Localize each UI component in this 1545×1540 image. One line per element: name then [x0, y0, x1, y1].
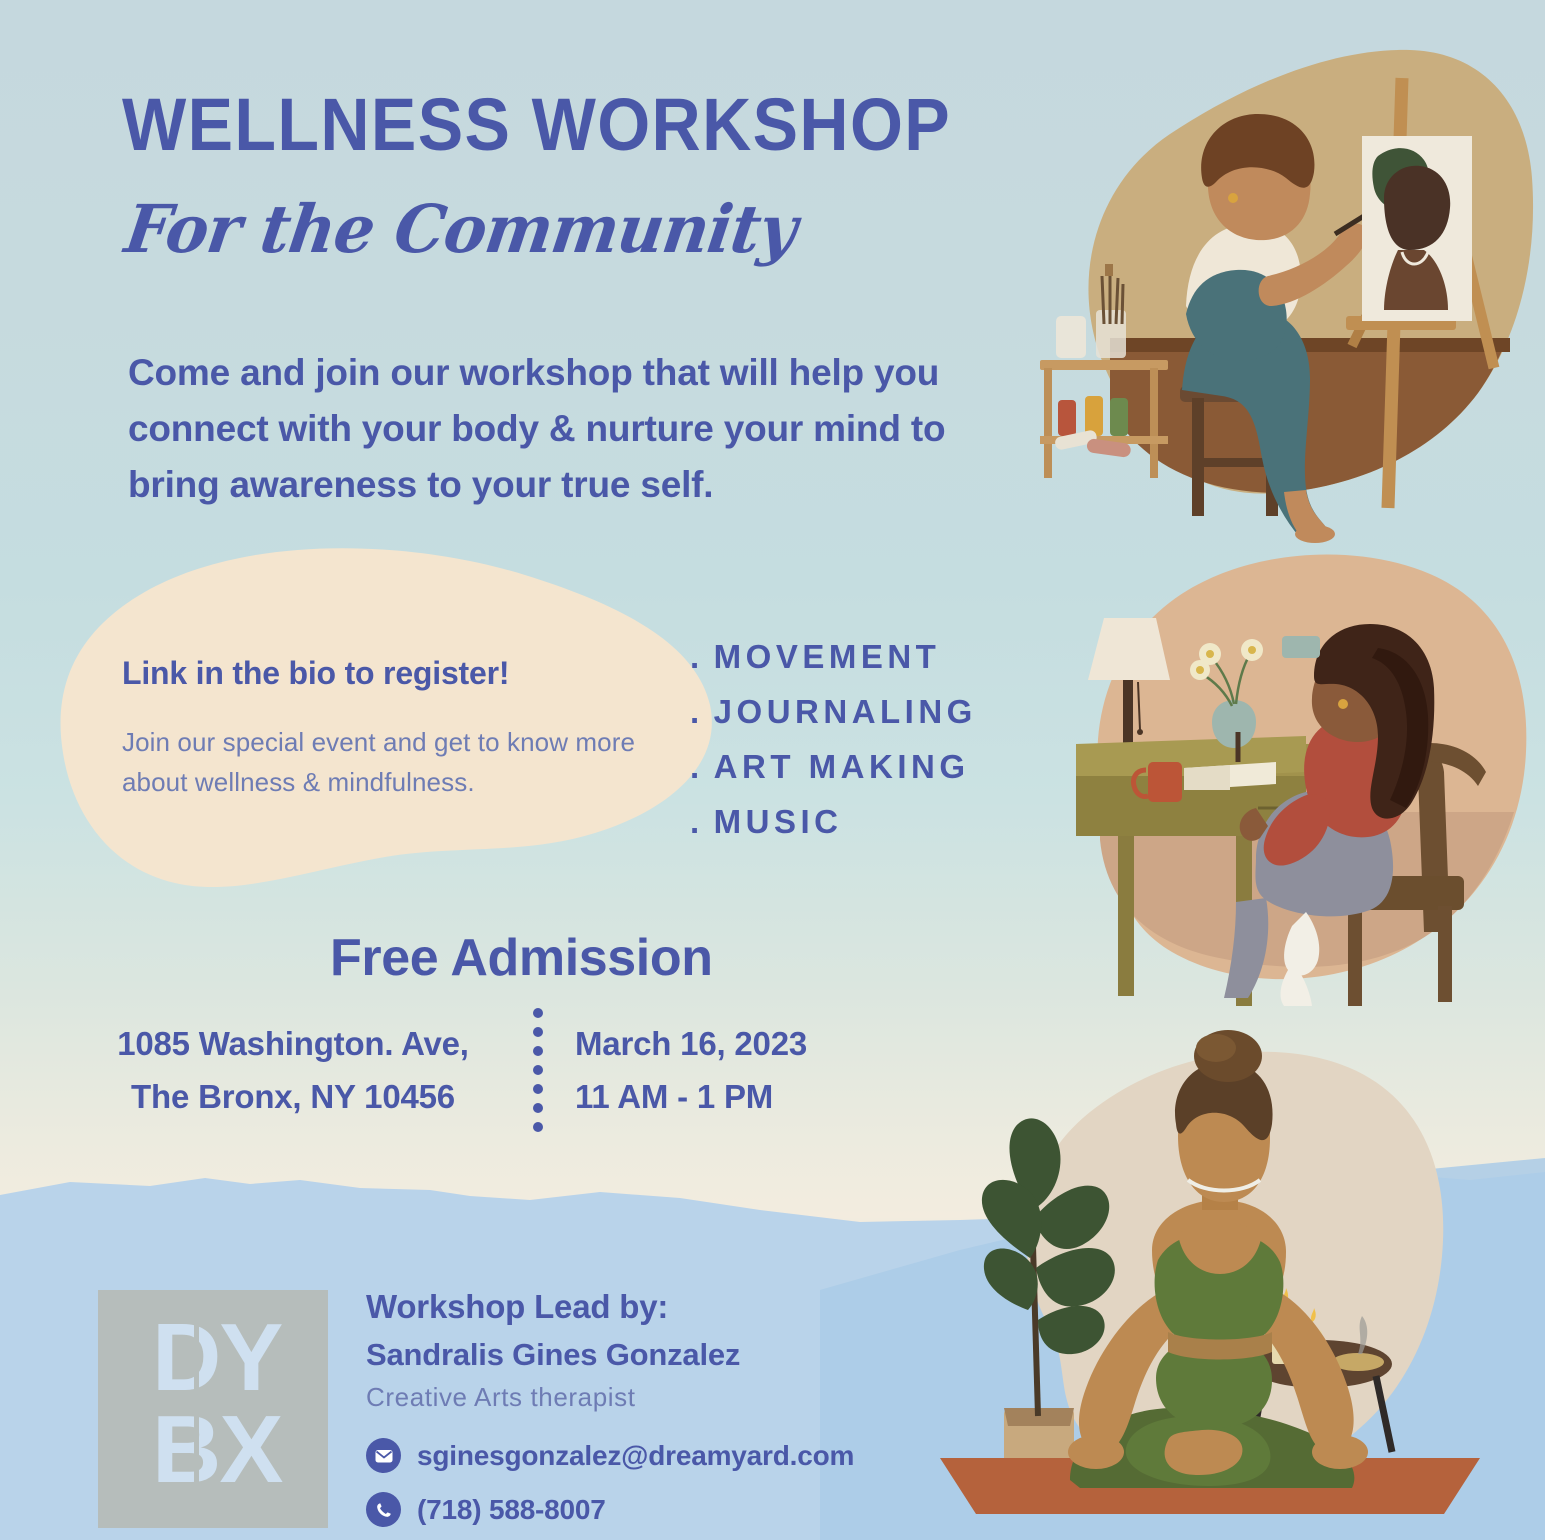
poster-canvas: WELLNESS WORKSHOP For the Community Come… [0, 0, 1545, 1540]
register-body: Join our special event and get to know m… [122, 722, 652, 803]
workshop-lead-name: Sandralis Gines Gonzalez [366, 1337, 740, 1373]
activity-label: ART MAKING [714, 748, 970, 785]
event-time: 11 AM - 1 PM [575, 1071, 905, 1124]
workshop-lead-label: Workshop Lead by: [366, 1288, 668, 1326]
event-date: March 16, 2023 [575, 1018, 905, 1071]
page-subtitle: For the Community [121, 196, 800, 262]
phone-icon [366, 1492, 401, 1527]
activity-item: .ART MAKING [690, 750, 977, 783]
dotted-divider [533, 1008, 545, 1148]
activity-label: MUSIC [714, 803, 843, 840]
free-admission-headline: Free Admission [330, 928, 713, 988]
phone-number: (718) 588-8007 [417, 1494, 606, 1526]
dybx-logo: DY BX [98, 1290, 328, 1528]
bullet-dot: . [690, 803, 704, 840]
illustration-woman-meditating [920, 1028, 1545, 1540]
contact-email-row[interactable]: sginesgonzalez@dreamyard.com [366, 1438, 854, 1473]
bullet-dot: . [690, 638, 704, 675]
bullet-dot: . [690, 748, 704, 785]
logo-line-1-text: DY [152, 1304, 282, 1411]
cream-blob-shape [55, 545, 715, 895]
workshop-lead-role: Creative Arts therapist [366, 1382, 636, 1413]
venue-address: 1085 Washington. Ave, The Bronx, NY 1045… [68, 1018, 518, 1124]
register-heading: Link in the bio to register! [122, 655, 682, 692]
contact-phone-row[interactable]: (718) 588-8007 [366, 1492, 606, 1527]
activity-label: JOURNALING [714, 693, 977, 730]
bullet-dot: . [690, 693, 704, 730]
activity-item: .MUSIC [690, 805, 977, 838]
page-title: WELLNESS WORKSHOP [122, 88, 951, 162]
logo-line-2-text: BX [152, 1396, 283, 1503]
illustration-woman-journaling [1060, 540, 1545, 1010]
activity-item: .MOVEMENT [690, 640, 977, 673]
envelope-icon [366, 1438, 401, 1473]
activity-item: .JOURNALING [690, 695, 977, 728]
event-datetime: March 16, 2023 11 AM - 1 PM [575, 1018, 905, 1124]
activities-list: .MOVEMENT .JOURNALING .ART MAKING .MUSIC [690, 640, 977, 860]
activity-label: MOVEMENT [714, 638, 941, 675]
address-line-1: 1085 Washington. Ave, [68, 1018, 518, 1071]
email-address: sginesgonzalez@dreamyard.com [417, 1440, 854, 1472]
address-line-2: The Bronx, NY 10456 [68, 1071, 518, 1124]
intro-paragraph: Come and join our workshop that will hel… [128, 345, 988, 514]
illustration-woman-painting [1010, 38, 1545, 543]
